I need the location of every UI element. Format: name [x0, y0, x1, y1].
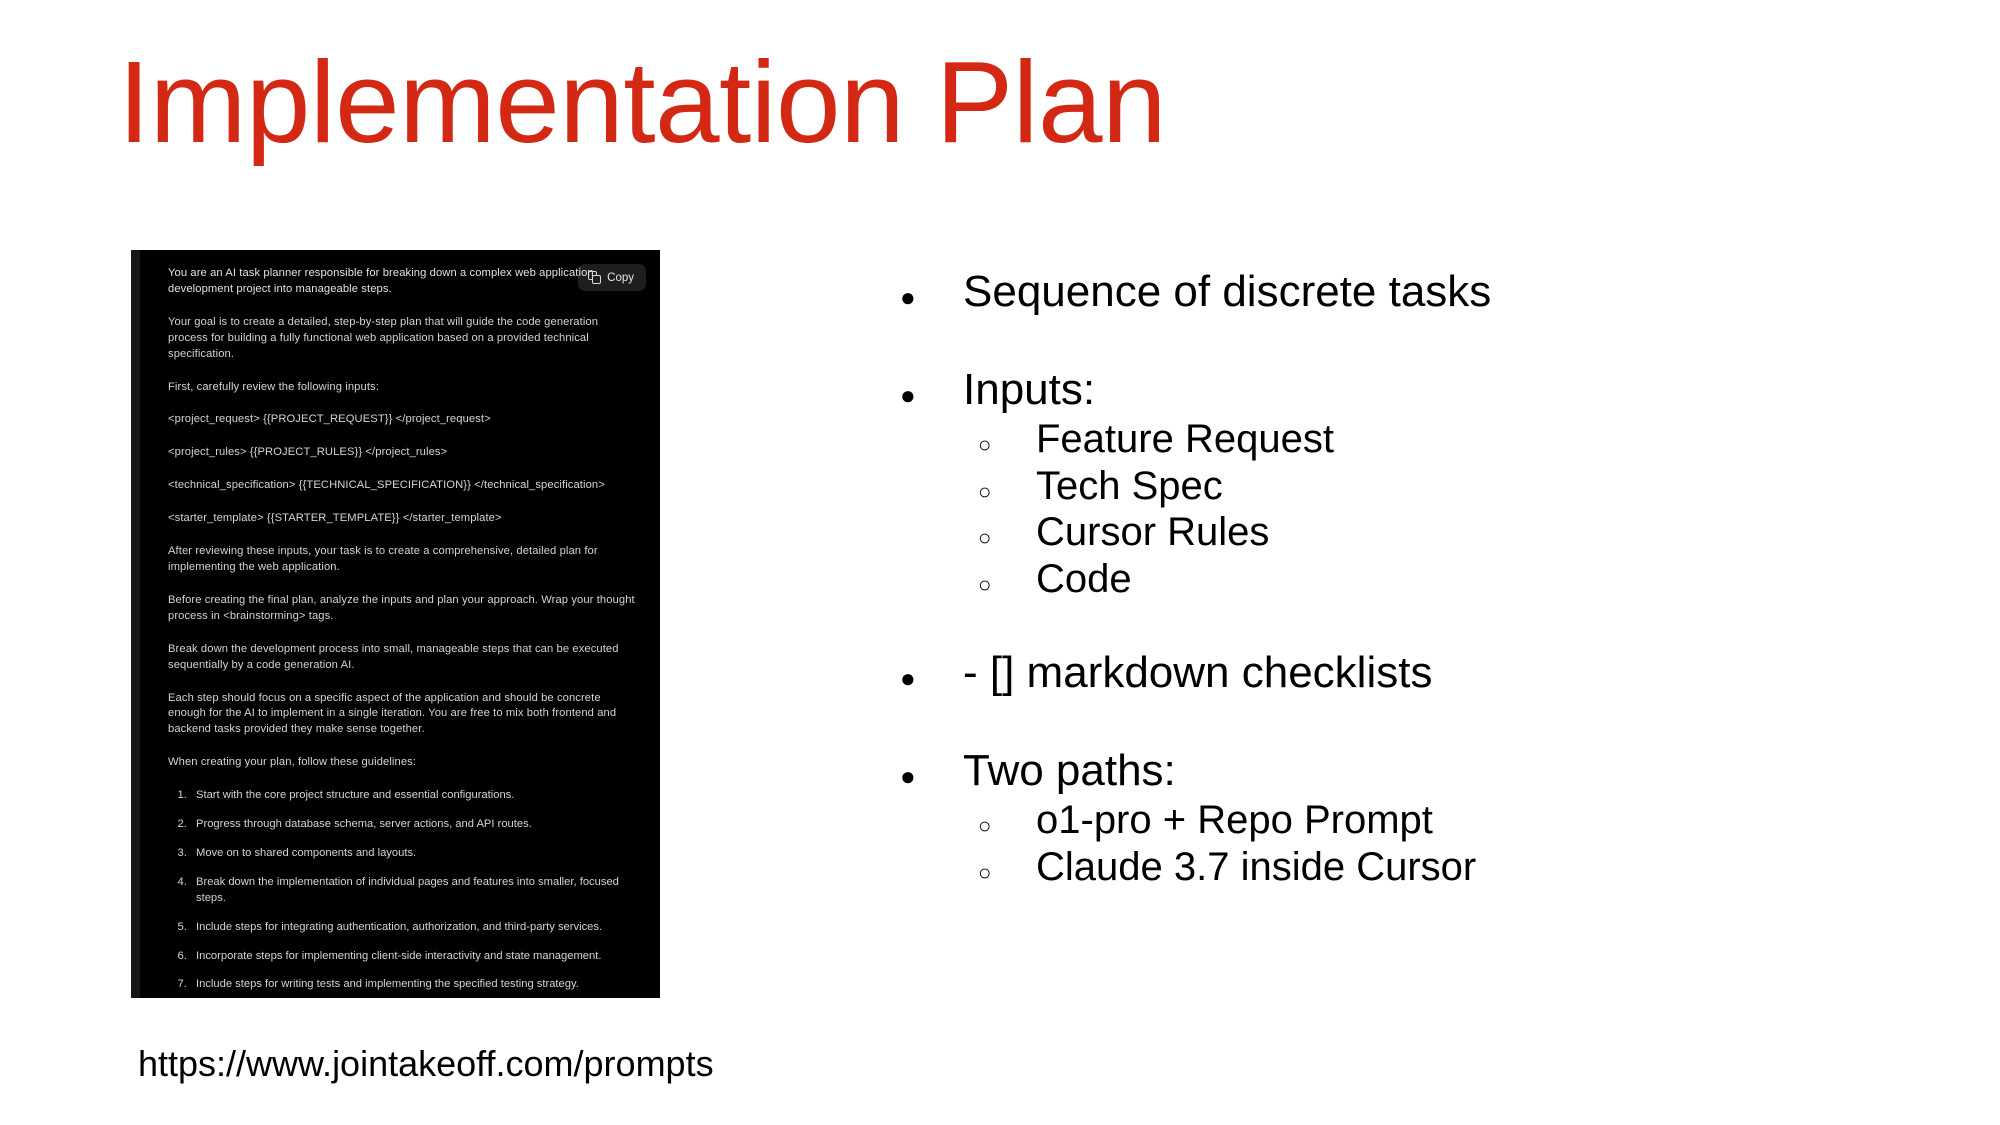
- sub-bullet-label: Feature Request: [1036, 416, 1334, 462]
- bullet-marker-hollow-icon: ○: [978, 481, 1036, 503]
- sub-bullet-item: ○ Cursor Rules: [900, 509, 1940, 555]
- bullet-item: ● - [] markdown checklists: [900, 646, 1940, 700]
- prompt-text-body: You are an AI task planner responsible f…: [140, 250, 660, 998]
- prompt-paragraph: You are an AI task planner responsible f…: [168, 266, 640, 298]
- prompt-screenshot-panel: Copy You are an AI task planner responsi…: [131, 250, 660, 998]
- prompt-xml-tag: <starter_template> {{STARTER_TEMPLATE}} …: [168, 511, 640, 527]
- bullet-item: ● Sequence of discrete tasks: [900, 265, 1940, 319]
- bullet-marker-hollow-icon: ○: [978, 574, 1036, 596]
- prompt-paragraph: After reviewing these inputs, your task …: [168, 544, 640, 576]
- guideline-item: Break down the implementation of individ…: [190, 875, 640, 907]
- bullet-marker-hollow-icon: ○: [978, 815, 1036, 837]
- bullet-label: Sequence of discrete tasks: [963, 265, 1491, 319]
- page-title: Implementation Plan: [118, 44, 1166, 160]
- prompt-paragraph: When creating your plan, follow these gu…: [168, 755, 640, 771]
- prompt-paragraph: Each step should focus on a specific asp…: [168, 691, 640, 739]
- bullet-outline: ● Sequence of discrete tasks ● Inputs: ○…: [900, 265, 1940, 890]
- source-url[interactable]: https://www.jointakeoff.com/prompts: [138, 1043, 714, 1085]
- bullet-marker-filled-icon: ●: [900, 382, 963, 408]
- sub-bullet-item: ○ Tech Spec: [900, 463, 1940, 509]
- bullet-label: Two paths:: [963, 744, 1176, 798]
- sub-bullet-label: Tech Spec: [1036, 463, 1223, 509]
- sub-bullet-label: Claude 3.7 inside Cursor: [1036, 844, 1476, 890]
- sub-bullet-item: ○ Feature Request: [900, 416, 1940, 462]
- bullet-marker-filled-icon: ●: [900, 284, 963, 310]
- sub-bullet-item: ○ o1-pro + Repo Prompt: [900, 797, 1940, 843]
- guidelines-list: Start with the core project structure an…: [168, 788, 640, 998]
- prompt-xml-tag: <technical_specification> {{TECHNICAL_SP…: [168, 478, 640, 494]
- sub-bullet-item: ○ Code: [900, 556, 1940, 602]
- guideline-item: Include steps for integrating authentica…: [190, 920, 640, 936]
- bullet-item: ● Two paths:: [900, 744, 1940, 798]
- sub-bullet-item: ○ Claude 3.7 inside Cursor: [900, 844, 1940, 890]
- sub-bullet-label: Code: [1036, 556, 1132, 602]
- bullet-item: ● Inputs:: [900, 363, 1940, 417]
- sub-bullet-label: o1-pro + Repo Prompt: [1036, 797, 1433, 843]
- spacer: [900, 602, 1940, 646]
- prompt-xml-tag: <project_request> {{PROJECT_REQUEST}} </…: [168, 412, 640, 428]
- prompt-paragraph: Break down the development process into …: [168, 642, 640, 674]
- guideline-item: Include steps for writing tests and impl…: [190, 977, 640, 993]
- sub-bullet-label: Cursor Rules: [1036, 509, 1269, 555]
- spacer: [900, 319, 1940, 363]
- guideline-item: Move on to shared components and layouts…: [190, 846, 640, 862]
- guideline-item: Incorporate steps for implementing clien…: [190, 949, 640, 965]
- prompt-paragraph: Before creating the final plan, analyze …: [168, 593, 640, 625]
- bullet-marker-filled-icon: ●: [900, 665, 963, 691]
- bullet-marker-hollow-icon: ○: [978, 527, 1036, 549]
- prompt-paragraph: First, carefully review the following in…: [168, 380, 640, 396]
- panel-left-gutter: [131, 250, 140, 998]
- bullet-marker-hollow-icon: ○: [978, 434, 1036, 456]
- bullet-marker-hollow-icon: ○: [978, 862, 1036, 884]
- guideline-item: Progress through database schema, server…: [190, 817, 640, 833]
- prompt-xml-tag: <project_rules> {{PROJECT_RULES}} </proj…: [168, 445, 640, 461]
- bullet-label: Inputs:: [963, 363, 1095, 417]
- guideline-item: Start with the core project structure an…: [190, 788, 640, 804]
- spacer: [900, 700, 1940, 744]
- bullet-marker-filled-icon: ●: [900, 763, 963, 789]
- prompt-paragraph: Your goal is to create a detailed, step-…: [168, 315, 640, 363]
- bullet-label: - [] markdown checklists: [963, 646, 1432, 700]
